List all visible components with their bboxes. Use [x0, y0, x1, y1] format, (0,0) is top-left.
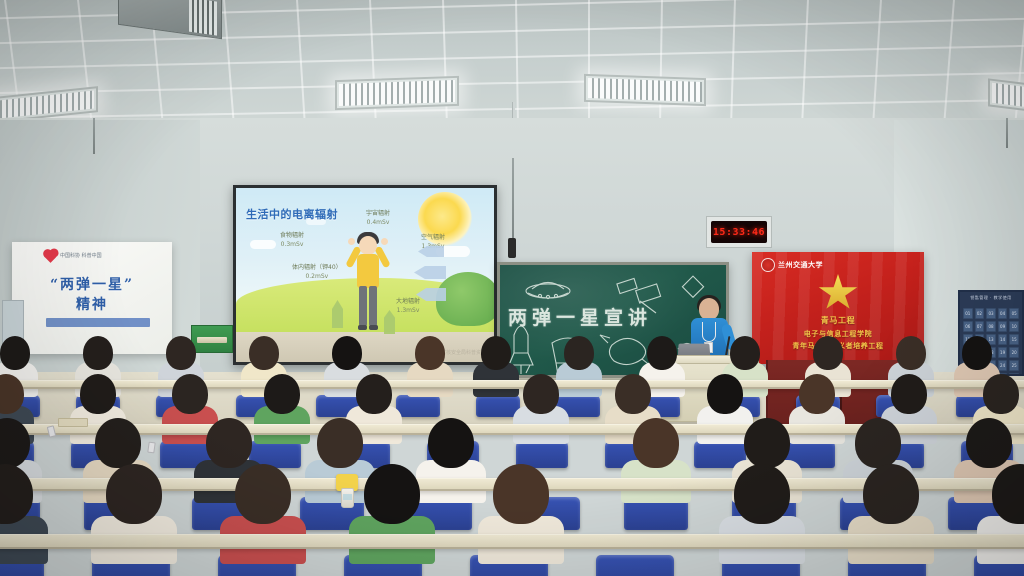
audience-member-head	[647, 336, 677, 370]
projector-screen-pull-cord	[512, 158, 514, 242]
digital-clock: 15:33:46	[706, 216, 772, 248]
banner-title-line1: “两弹一星”	[12, 274, 172, 294]
presenter-head	[699, 298, 719, 320]
key-board-cell[interactable]: 07	[975, 321, 985, 332]
university-name: 兰州交通大学	[778, 260, 823, 270]
key-board-cell[interactable]: 10	[1009, 321, 1019, 332]
audience-member-head	[356, 374, 392, 414]
audience-member-head	[264, 374, 300, 414]
key-board-cell[interactable]: 06	[963, 321, 973, 332]
audience-member-head	[172, 374, 208, 414]
audience-member-head	[95, 418, 141, 468]
figure-body	[357, 254, 379, 288]
lecture-desk	[0, 534, 1024, 549]
audience-member-head	[744, 418, 790, 468]
audience-member-head	[707, 374, 743, 414]
audience-member-head	[855, 418, 901, 468]
audience-member-head	[615, 374, 651, 414]
key-board-cell[interactable]: 09	[998, 321, 1008, 332]
banner-org-row: 中国科协 科普中国	[46, 252, 102, 261]
audience-member-head	[235, 464, 291, 524]
figure-head	[359, 236, 377, 255]
banner-org-name: 中国科协 科普中国	[60, 253, 102, 260]
audience-member-head	[332, 336, 362, 370]
audience-member-head	[564, 336, 594, 370]
lecture-hall-photo: 生活中的电离辐射 食物辐射 0.3mSv 宇宙辐射 0.4mSv 空气辐射 1.…	[0, 0, 1024, 576]
audience-member-head	[493, 464, 549, 524]
audience-member-head	[523, 374, 559, 414]
banner-program-title: 青马工程	[752, 314, 924, 328]
slide-title: 生活中的电离辐射	[246, 206, 338, 222]
audience-member-head	[992, 464, 1024, 524]
key-board-header: 钥匙管理 · 教学使用	[963, 295, 1019, 306]
key-board-cell[interactable]: 15	[1009, 334, 1019, 345]
cloud-graphic	[250, 240, 276, 249]
audience-member-head	[730, 336, 760, 370]
audience-member-head	[249, 336, 279, 370]
ceiling	[0, 0, 1024, 126]
figure-shoe-right	[369, 325, 378, 330]
heart-icon	[44, 250, 57, 263]
university-logo: 兰州交通大学	[761, 258, 823, 272]
audience-seating	[0, 378, 1024, 576]
figure-hand-right	[381, 238, 388, 245]
figure-hand-left	[348, 238, 355, 245]
figure-shoe-left	[358, 325, 367, 330]
lecture-chair[interactable]	[596, 555, 674, 576]
radiation-arrow	[414, 266, 446, 279]
key-board-cell[interactable]: 20	[1009, 347, 1019, 358]
hanging-wire	[1006, 118, 1008, 148]
figure-leg-right	[369, 286, 377, 326]
open-notebook[interactable]	[58, 418, 88, 427]
pull-cord-handle[interactable]	[508, 238, 516, 258]
key-board-cell[interactable]: 03	[986, 308, 996, 319]
banner-title-line2: 精神	[12, 294, 172, 314]
hanging-wire	[93, 118, 95, 154]
audience-member-head	[863, 464, 919, 524]
audience-member-head	[813, 336, 843, 370]
audience-member-head	[962, 336, 992, 370]
audience-member-head	[983, 374, 1019, 414]
gold-star-icon	[818, 274, 858, 312]
key-board-cell[interactable]: 08	[986, 321, 996, 332]
audience-member-head	[415, 336, 445, 370]
audience-member-head	[428, 418, 474, 468]
audience-member-head	[0, 336, 30, 370]
slide-label-food: 食物辐射 0.3mSv	[280, 232, 304, 249]
clock-time: 15:33:46	[713, 227, 765, 238]
key-board-cell[interactable]: 04	[998, 308, 1008, 319]
presenter-lanyard	[702, 322, 716, 342]
audience-member-head	[799, 374, 835, 414]
key-board-cell[interactable]: 02	[975, 308, 985, 319]
audience-member-head	[966, 418, 1012, 468]
ceiling-light-panel	[584, 74, 706, 106]
key-board-cell[interactable]: 01	[963, 308, 973, 319]
person-illustration	[348, 226, 388, 330]
audience-member-head	[734, 464, 790, 524]
audience-member-head	[364, 464, 420, 524]
slide-label-internal: 体内辐射（钾40） 0.2mSv	[292, 264, 342, 281]
slide-label-cosmic: 宇宙辐射 0.4mSv	[366, 210, 390, 227]
lecture-chair[interactable]	[396, 395, 440, 417]
key-board-cell[interactable]: 25	[1009, 360, 1019, 371]
blackboard-title: 两弹一星宣讲	[508, 303, 652, 330]
audience-member-head	[80, 374, 116, 414]
lecture-desk	[0, 380, 1024, 389]
audience-member-head	[891, 374, 927, 414]
audience-member-head	[83, 336, 113, 370]
slide-label-terrestrial: 大地辐射 1.3mSv	[396, 298, 420, 315]
figure-leg-left	[359, 286, 367, 326]
audience-member-head	[481, 336, 511, 370]
banner-caption-strip	[46, 318, 150, 327]
audience-member-head	[206, 418, 252, 468]
audience-member-head	[166, 336, 196, 370]
audience-member-head	[633, 418, 679, 468]
drink-cup[interactable]	[341, 488, 354, 508]
audience-member-head	[317, 418, 363, 468]
audience-member-head	[106, 464, 162, 524]
key-board-cell[interactable]: 05	[1009, 308, 1019, 319]
audience-member-head	[0, 464, 33, 524]
audience-member-head	[896, 336, 926, 370]
ceiling-light-panel	[335, 76, 459, 110]
clock-display: 15:33:46	[711, 221, 767, 243]
university-seal-icon	[761, 258, 775, 272]
smartphone[interactable]	[147, 442, 155, 454]
